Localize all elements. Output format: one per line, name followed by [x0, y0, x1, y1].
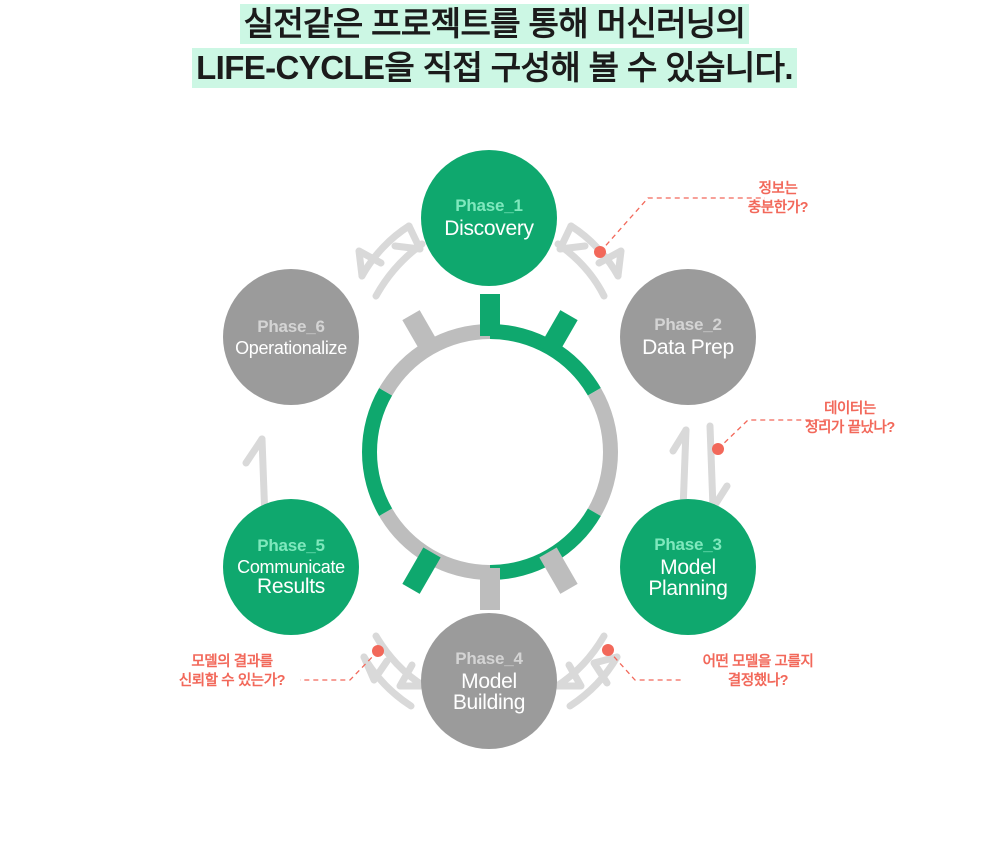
connector-stem-phase-2 — [402, 310, 440, 356]
callout-dot-4 — [372, 645, 384, 657]
infographic-canvas: 실전같은 프로젝트를 통해 머신러닝의 LIFE-CYCLE을 직접 구성해 볼… — [0, 0, 989, 859]
phase-1-name: Discovery — [444, 218, 533, 239]
phase-6-name: Operationalize — [235, 339, 347, 357]
callout-2-line2: 정리가 끝났나? — [780, 419, 920, 438]
phase-6-name-line1: Operationalize — [235, 338, 347, 358]
flow-arrow-6-1 — [359, 226, 422, 296]
callout-dot-3 — [602, 644, 614, 656]
phase-5-name-line1: Communicate — [237, 557, 345, 577]
callout-dot-1 — [594, 246, 606, 258]
phase-4-number: Phase_4 — [455, 650, 523, 667]
phase-node-3[interactable]: Phase_3 Model Planning — [620, 499, 756, 635]
title-line-2-text: LIFE-CYCLE을 직접 구성해 볼 수 있습니다. — [192, 48, 797, 88]
phase-2-name: Data Prep — [642, 337, 734, 358]
ring-segment-4 — [379, 509, 490, 581]
callout-2-line1: 데이터는 — [780, 400, 920, 419]
connector-stem-phase-3 — [539, 310, 577, 356]
phase-5-name: Communicate Results — [237, 558, 345, 597]
flow-arrow-2-3 — [673, 426, 727, 510]
callout-dot-2 — [712, 443, 724, 455]
phase-node-1[interactable]: Phase_1 Discovery — [421, 150, 557, 286]
ring-segment-3 — [490, 509, 601, 581]
phase-node-6[interactable]: Phase_6 Operationalize — [223, 269, 359, 405]
phase-4-name-line1: Model — [461, 670, 517, 693]
page-title: 실전같은 프로젝트를 통해 머신러닝의 LIFE-CYCLE을 직접 구성해 볼… — [0, 0, 989, 90]
phase-1-name-line1: Discovery — [444, 217, 533, 240]
flow-arrow-4-5 — [364, 636, 424, 706]
callout-3-line2: 결정했나? — [678, 672, 838, 691]
connector-stem-phase-4 — [480, 568, 500, 610]
ring-segment-6 — [379, 324, 490, 396]
connector-stem-phase-5 — [402, 547, 440, 593]
phase-2-number: Phase_2 — [654, 316, 722, 333]
phase-3-name-line2: Planning — [648, 578, 727, 599]
phase-3-name: Model Planning — [648, 557, 727, 599]
phase-node-5[interactable]: Phase_5 Communicate Results — [223, 499, 359, 635]
callout-1-line2: 충분한가? — [718, 199, 838, 218]
phase-node-2[interactable]: Phase_2 Data Prep — [620, 269, 756, 405]
phase-node-4[interactable]: Phase_4 Model Building — [421, 613, 557, 749]
title-line-1-text: 실전같은 프로젝트를 통해 머신러닝의 — [240, 4, 750, 44]
phase-3-name-line1: Model — [660, 556, 716, 579]
phase-4-name: Model Building — [453, 671, 525, 713]
flow-arrow-1-2 — [558, 226, 621, 296]
callout-leaders — [300, 198, 830, 680]
callout-1-line1: 정보는 — [718, 180, 838, 199]
phase-2-name-line1: Data Prep — [642, 336, 734, 359]
callout-4-line2: 신뢰할 수 있는가? — [152, 672, 312, 691]
phase-6-number: Phase_6 — [257, 318, 325, 335]
phase-5-name-line2: Results — [237, 576, 345, 597]
ring-segment-5 — [362, 388, 392, 516]
title-line-2: LIFE-CYCLE을 직접 구성해 볼 수 있습니다. — [0, 46, 989, 90]
callout-3-line1: 어떤 모델을 고를지 — [678, 653, 838, 672]
cycle-ring — [362, 324, 618, 580]
callout-text-3: 어떤 모델을 고를지 결정했나? — [678, 653, 838, 691]
phase-5-number: Phase_5 — [257, 537, 325, 554]
callout-text-1: 정보는 충분한가? — [718, 180, 838, 218]
ring-segment-2 — [588, 388, 618, 516]
phase-4-name-line2: Building — [453, 692, 525, 713]
callout-text-4: 모델의 결과를 신뢰할 수 있는가? — [152, 653, 312, 691]
phase-1-number: Phase_1 — [455, 197, 523, 214]
lifecycle-diagram: Phase_1 Discovery Phase_2 Data Prep Phas… — [0, 108, 989, 808]
title-line-1: 실전같은 프로젝트를 통해 머신러닝의 — [0, 2, 989, 46]
ring-segment-1 — [490, 324, 601, 396]
phase-3-number: Phase_3 — [654, 536, 722, 553]
ring-connectors — [402, 294, 577, 610]
callout-text-2: 데이터는 정리가 끝났나? — [780, 400, 920, 438]
connector-stem-phase-6 — [539, 547, 577, 593]
connector-stem-phase-1 — [480, 294, 500, 336]
callout-4-line1: 모델의 결과를 — [152, 653, 312, 672]
